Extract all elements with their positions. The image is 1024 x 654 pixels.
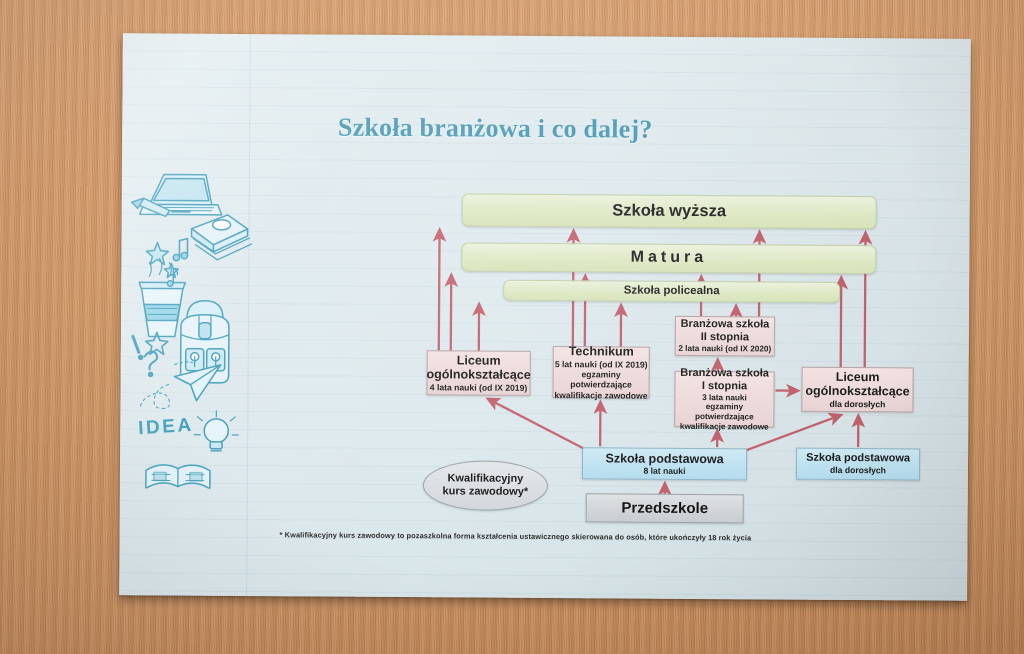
node-line-4: kwalifikacje zawodowe — [554, 390, 647, 401]
node-line-2: kurs zawodowy* — [442, 485, 528, 499]
question-mark-icon — [145, 351, 158, 376]
node-liceum[interactable]: Liceum ogólnokształcące 4 lata nauki (od… — [426, 350, 530, 396]
star-icon — [146, 242, 168, 264]
node-line-2: II stopnia — [701, 331, 749, 344]
node-title: Szkoła policealna — [624, 284, 720, 298]
node-line-3: 2 lata nauki (od IX 2020) — [678, 344, 771, 354]
node-title: Szkoła wyższa — [612, 201, 726, 221]
node-title: Matura — [631, 249, 708, 268]
node-line-1: Branżowa szkoła — [680, 367, 769, 381]
node-line-1: Liceum — [457, 353, 501, 368]
node-line-3: dla dorosłych — [829, 399, 885, 410]
page-title: Szkoła branżowa i co dalej? — [280, 112, 710, 145]
idea-doodle-text: IDEA — [138, 415, 195, 440]
node-szkola-podstawowa-dla-doroslych[interactable]: Szkoła podstawowa dla dorosłych — [796, 448, 920, 481]
node-title: Przedszkole — [621, 499, 708, 517]
node-line-1: Branżowa szkoła — [681, 318, 770, 332]
node-line-5: kwalifikacje zawodowe — [680, 422, 769, 432]
node-line-2: I stopnia — [702, 380, 747, 393]
books-icon — [191, 215, 251, 260]
node-szkola-policealna[interactable]: Szkoła policealna — [503, 280, 840, 303]
node-liceum-dla-doroslych[interactable]: Liceum ogólnokształcące dla dorosłych — [801, 367, 913, 413]
node-line-2: dla dorosłych — [830, 465, 886, 476]
lightbulb-icon — [194, 411, 238, 451]
node-line-2: 5 lat nauki (od IX 2019) — [555, 359, 648, 370]
arrow-liceum-to-wyzsza — [439, 229, 440, 350]
coffee-cup-icon — [139, 258, 186, 336]
node-szkola-wyzsza[interactable]: Szkoła wyższa — [462, 193, 877, 229]
node-szkola-podstawowa[interactable]: Szkoła podstawowa 8 lat nauki — [582, 447, 747, 480]
arrow-liceum-to-matura — [451, 274, 452, 350]
arrow-podstawowa-to-liceum — [487, 399, 585, 450]
education-flowchart: Szkoła wyższa Matura Szkoła policealna L… — [279, 144, 962, 569]
node-kwalifikacyjny-kurs-zawodowy[interactable]: Kwalifikacyjny kurs zawodowy* — [423, 460, 548, 511]
node-line-2: 8 lat nauki — [643, 466, 685, 476]
node-line-1: Szkoła podstawowa — [605, 451, 723, 467]
node-matura[interactable]: Matura — [461, 242, 876, 274]
node-line-1: Technikum — [569, 345, 634, 360]
open-book-icon — [146, 465, 210, 489]
node-line-3: egzaminy potwierdzające — [554, 369, 649, 390]
desk-background: Szkoła branżowa i co dalej? — [0, 0, 1024, 654]
paper-sheet: Szkoła branżowa i co dalej? — [119, 33, 971, 601]
node-line-1: Liceum — [836, 370, 880, 385]
node-line-2: ogólnokształcące — [805, 384, 909, 399]
node-line-4: egzaminy potwierdzające — [675, 402, 773, 422]
exclamation-mark-icon — [133, 336, 143, 359]
music-note-icon — [173, 239, 188, 261]
node-line-3: 3 lata nauki — [702, 393, 747, 403]
node-line-1: Szkoła podstawowa — [806, 452, 910, 466]
node-przedszkole[interactable]: Przedszkole — [586, 493, 744, 523]
node-line-2: ogólnokształcące — [426, 368, 530, 383]
arrow-liceum-doroslych-to-matura — [841, 277, 842, 367]
doodle-illustration-column: IDEA — [128, 158, 255, 489]
node-line-3: 4 lata nauki (od IX 2019) — [430, 382, 528, 393]
node-technikum[interactable]: Technikum 5 lat nauki (od IX 2019) egzam… — [552, 346, 649, 399]
node-line-1: Kwalifikacyjny — [447, 472, 523, 485]
node-branzowa-szkola-ii[interactable]: Branżowa szkoła II stopnia 2 lata nauki … — [675, 316, 775, 357]
node-branzowa-szkola-i[interactable]: Branżowa szkoła I stopnia 3 lata nauki e… — [674, 371, 774, 428]
